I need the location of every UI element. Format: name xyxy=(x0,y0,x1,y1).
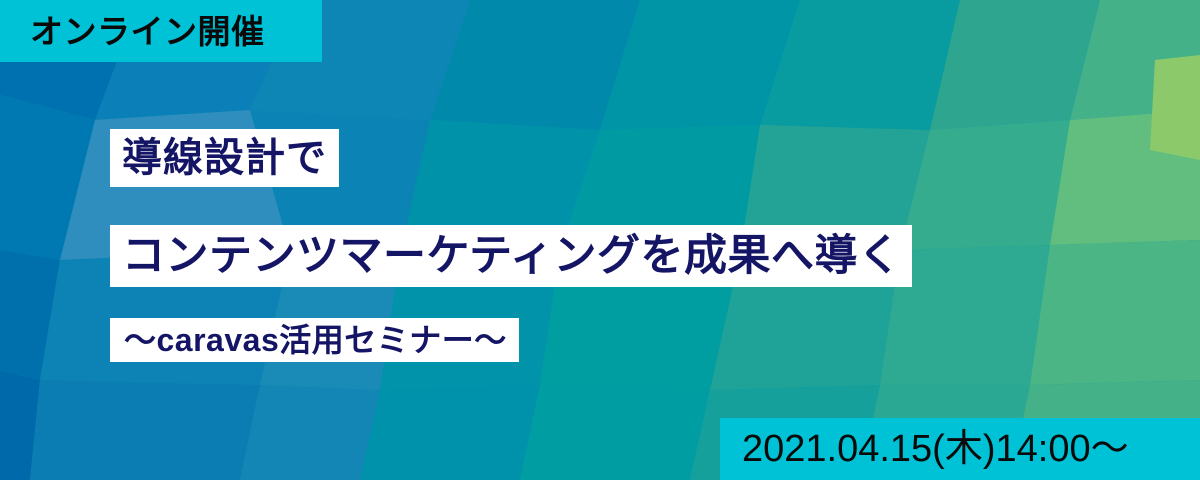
headline-line-1: 導線設計で xyxy=(110,129,339,187)
headline-line-2: コンテンツマーケティングを成果へ導く xyxy=(110,225,912,287)
headline-subtitle: 〜caravas活用セミナー〜 xyxy=(110,318,519,362)
webinar-banner: オンライン開催 導線設計で コンテンツマーケティングを成果へ導く 〜carava… xyxy=(0,0,1200,480)
headline-line-1-text: 導線設計で xyxy=(122,138,327,178)
headline-subtitle-text: 〜caravas活用セミナー〜 xyxy=(124,324,507,356)
banner-content-overlay: オンライン開催 導線設計で コンテンツマーケティングを成果へ導く 〜carava… xyxy=(0,0,1200,480)
event-date-badge-label: 2021.04.15(木)14:00〜 xyxy=(742,430,1129,468)
event-date-badge: 2021.04.15(木)14:00〜 xyxy=(720,418,1200,480)
headline-line-2-text: コンテンツマーケティングを成果へ導く xyxy=(122,235,902,278)
online-event-badge: オンライン開催 xyxy=(0,0,322,62)
online-event-badge-label: オンライン開催 xyxy=(30,15,265,48)
